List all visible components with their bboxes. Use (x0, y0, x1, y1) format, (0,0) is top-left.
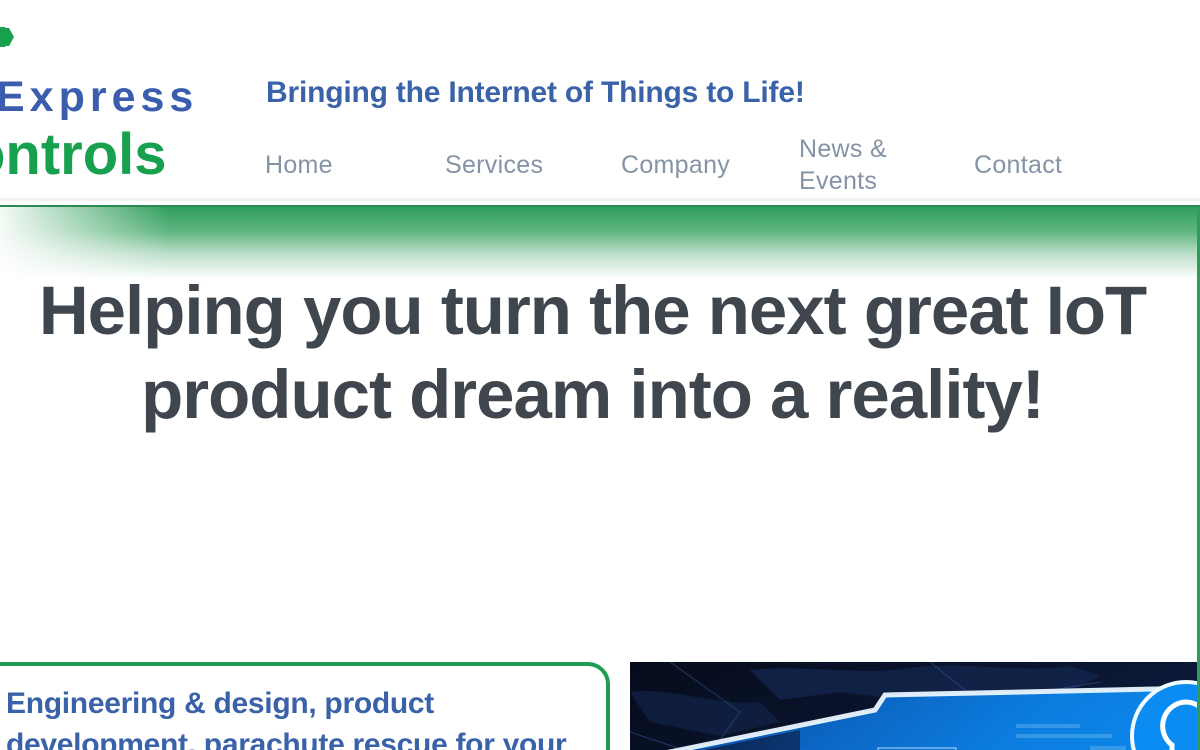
nav-item-services[interactable]: Services (445, 149, 543, 181)
hero-section: Helping you turn the next great IoT prod… (0, 205, 1200, 750)
logo-word-express: Express (0, 76, 198, 119)
site-logo[interactable]: Express ontrols (0, 22, 242, 182)
hero-callout-text: Engineering & design, product developmen… (6, 683, 584, 750)
site-header: Express ontrols Bringing the Internet of… (0, 0, 1200, 200)
hero-callout-box: Engineering & design, product developmen… (0, 662, 610, 750)
nav-item-contact[interactable]: Contact (974, 149, 1062, 181)
hero-headline: Helping you turn the next great IoT prod… (0, 269, 1185, 437)
site-tagline: Bringing the Internet of Things to Life! (266, 76, 805, 110)
main-navigation: Home Services Company News & Events Cont… (262, 132, 1192, 198)
header-divider (0, 198, 1200, 201)
nav-item-company[interactable]: Company (621, 149, 730, 181)
nav-item-home[interactable]: Home (265, 149, 333, 181)
logo-word-controls: ontrols (0, 126, 167, 184)
page-root: Express ontrols Bringing the Internet of… (0, 0, 1200, 750)
hero-iot-image (630, 662, 1200, 750)
nav-item-news-events[interactable]: News & Events (799, 133, 899, 197)
green-arrow-mark-icon (0, 26, 22, 48)
